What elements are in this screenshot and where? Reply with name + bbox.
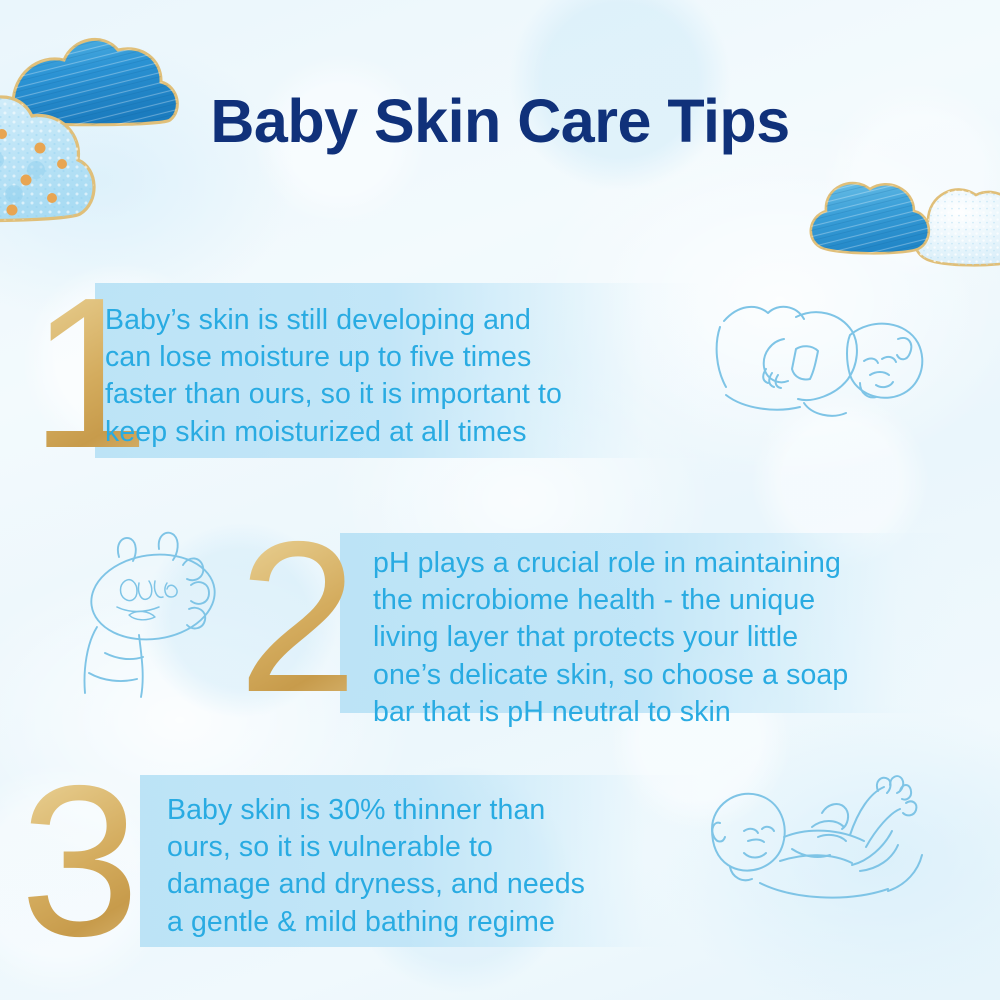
tip-row-1: 1 Baby’s skin is still developing and ca… — [0, 283, 1000, 458]
tip-numeral-2: 2 — [238, 509, 358, 724]
cloud-cluster-top-right — [800, 155, 1000, 273]
cloud-textured-blue — [811, 183, 929, 253]
tip-row-3: 3 Baby skin is 30% thinner than ours, so… — [0, 775, 1000, 947]
page-title: Baby Skin Care Tips — [0, 86, 1000, 156]
hand-holding-dove-soap-bar-sketch-icon — [75, 523, 265, 703]
infographic-poster: Baby Skin Care Tips — [0, 0, 1000, 1000]
tip-text-1: Baby’s skin is still developing and can … — [105, 302, 685, 451]
cloud-pale-speckled — [914, 189, 1000, 265]
tip-numeral-3: 3 — [20, 753, 140, 968]
tip-row-2: 2 pH plays a crucial role in maintaining… — [0, 533, 1000, 713]
tip-text-2: pH plays a crucial role in maintaining t… — [373, 545, 953, 731]
tip-text-3: Baby skin is 30% thinner than ours, so i… — [167, 792, 687, 941]
baby-lying-sketch-icon — [700, 283, 960, 423]
baby-on-back-legs-up-sketch-icon — [700, 775, 950, 910]
